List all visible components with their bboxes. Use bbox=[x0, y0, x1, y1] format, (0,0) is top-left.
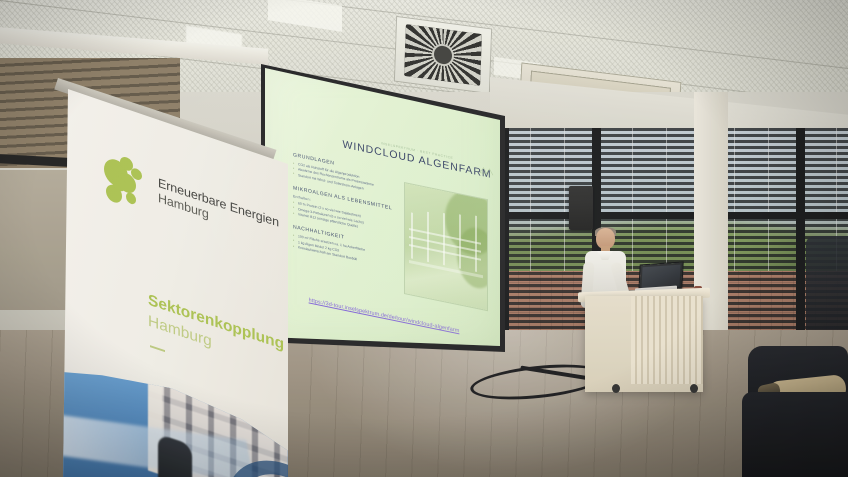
window-mullion bbox=[796, 128, 805, 358]
banner-headline: Sektorenkopplung für Hamburg bbox=[148, 290, 298, 381]
slide-photo-algae-farm bbox=[405, 183, 487, 310]
slide-content: INSELSPEKTRUM · BEST PRACTICE WINDCLOUD … bbox=[253, 54, 505, 404]
projection-screen: INSELSPEKTRUM · BEST PRACTICE WINDCLOUD … bbox=[253, 54, 505, 352]
background-chair bbox=[806, 236, 848, 332]
pa-speaker bbox=[569, 186, 593, 230]
lectern-caster bbox=[612, 384, 620, 393]
presentation-room-photo: INSELSPEKTRUM · BEST PRACTICE WINDCLOUD … bbox=[0, 0, 848, 477]
lectern-caster bbox=[690, 384, 698, 393]
slide-text-column: GRUNDLAGEN CO2 als Rohstoff für die Alge… bbox=[293, 152, 399, 279]
screen-surface: INSELSPEKTRUM · BEST PRACTICE WINDCLOUD … bbox=[253, 54, 505, 352]
couch-seat bbox=[742, 392, 848, 477]
logo-wordmark: Erneuerbare Energien Hamburg bbox=[158, 176, 284, 248]
foreground-couch bbox=[742, 346, 848, 477]
lectern-wood-slats bbox=[631, 296, 703, 384]
banner-rule bbox=[150, 345, 165, 352]
erneuerbare-energien-logo-icon bbox=[104, 150, 150, 217]
